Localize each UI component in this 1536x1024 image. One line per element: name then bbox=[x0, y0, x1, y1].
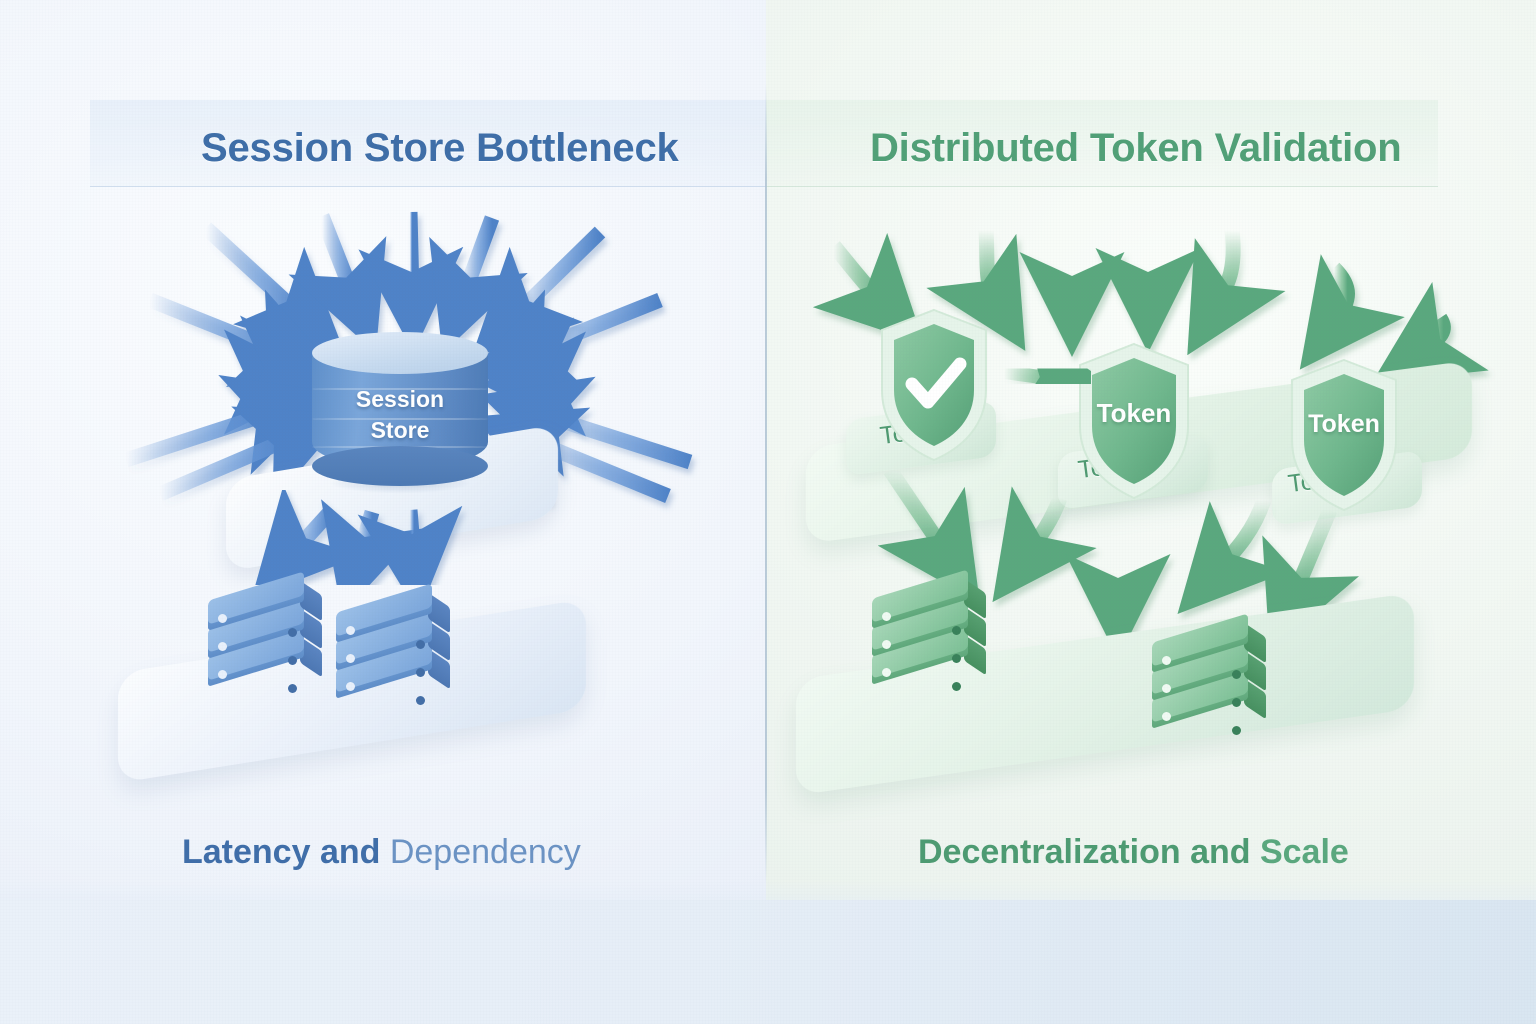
server-led-icon bbox=[952, 682, 961, 691]
cylinder-top-cap bbox=[312, 332, 488, 374]
server-led-icon bbox=[952, 626, 961, 635]
shield-token-2-label: Token bbox=[1072, 398, 1196, 429]
server-led-icon bbox=[1162, 684, 1171, 693]
server-led-icon bbox=[1162, 656, 1171, 665]
left-panel-title: Session Store Bottleneck bbox=[201, 126, 679, 171]
server-led-icon bbox=[346, 626, 355, 635]
shield-verified[interactable] bbox=[874, 306, 994, 466]
left-server-stack-1[interactable] bbox=[208, 586, 334, 690]
session-store-label-line2: Store bbox=[312, 415, 488, 446]
panel-divider bbox=[765, 84, 767, 884]
server-led-icon bbox=[218, 614, 227, 623]
server-unit bbox=[208, 586, 318, 612]
diagram-canvas: Session Store bbox=[0, 0, 1536, 1024]
right-panel-title: Distributed Token Validation bbox=[870, 126, 1402, 171]
shield-token-2[interactable]: Token bbox=[1072, 340, 1196, 504]
server-unit bbox=[872, 584, 982, 610]
left-server-stack-2[interactable] bbox=[336, 598, 462, 702]
right-server-stack-2[interactable] bbox=[1152, 628, 1278, 732]
left-caption-soft: Dependency bbox=[390, 833, 581, 871]
server-led-icon bbox=[882, 668, 891, 677]
server-led-icon bbox=[416, 696, 425, 705]
server-led-icon bbox=[1232, 698, 1241, 707]
shield-token-3[interactable]: Token bbox=[1284, 356, 1404, 516]
server-led-icon bbox=[288, 628, 297, 637]
server-unit bbox=[1152, 628, 1262, 654]
server-led-icon bbox=[952, 654, 961, 663]
server-led-icon bbox=[218, 670, 227, 679]
server-led-icon bbox=[416, 640, 425, 649]
session-store-label: Session Store bbox=[312, 384, 488, 446]
right-caption-strong: Decentralization and bbox=[918, 833, 1260, 871]
server-led-icon bbox=[882, 612, 891, 621]
server-led-icon bbox=[416, 668, 425, 677]
session-store-label-line1: Session bbox=[312, 384, 488, 415]
bottom-gradient-wash-2 bbox=[0, 900, 1536, 1024]
right-caption-soft: Scale bbox=[1260, 833, 1349, 871]
shield-token-3-label: Token bbox=[1284, 410, 1404, 439]
server-led-icon bbox=[346, 654, 355, 663]
cylinder-bottom-cap bbox=[312, 446, 488, 486]
left-caption-strong: Latency and bbox=[182, 833, 390, 871]
server-led-icon bbox=[882, 640, 891, 649]
session-store-database-icon[interactable]: Session Store bbox=[312, 332, 488, 482]
server-led-icon bbox=[346, 682, 355, 691]
server-led-icon bbox=[1232, 726, 1241, 735]
right-panel-caption: Decentralization and Scale bbox=[918, 833, 1349, 872]
server-led-icon bbox=[218, 642, 227, 651]
server-unit bbox=[336, 598, 446, 624]
check-icon bbox=[874, 306, 994, 466]
right-server-stack-1[interactable] bbox=[872, 584, 998, 688]
server-led-icon bbox=[288, 684, 297, 693]
server-led-icon bbox=[288, 656, 297, 665]
server-led-icon bbox=[1232, 670, 1241, 679]
server-led-icon bbox=[1162, 712, 1171, 721]
left-panel-caption: Latency and Dependency bbox=[182, 833, 581, 872]
